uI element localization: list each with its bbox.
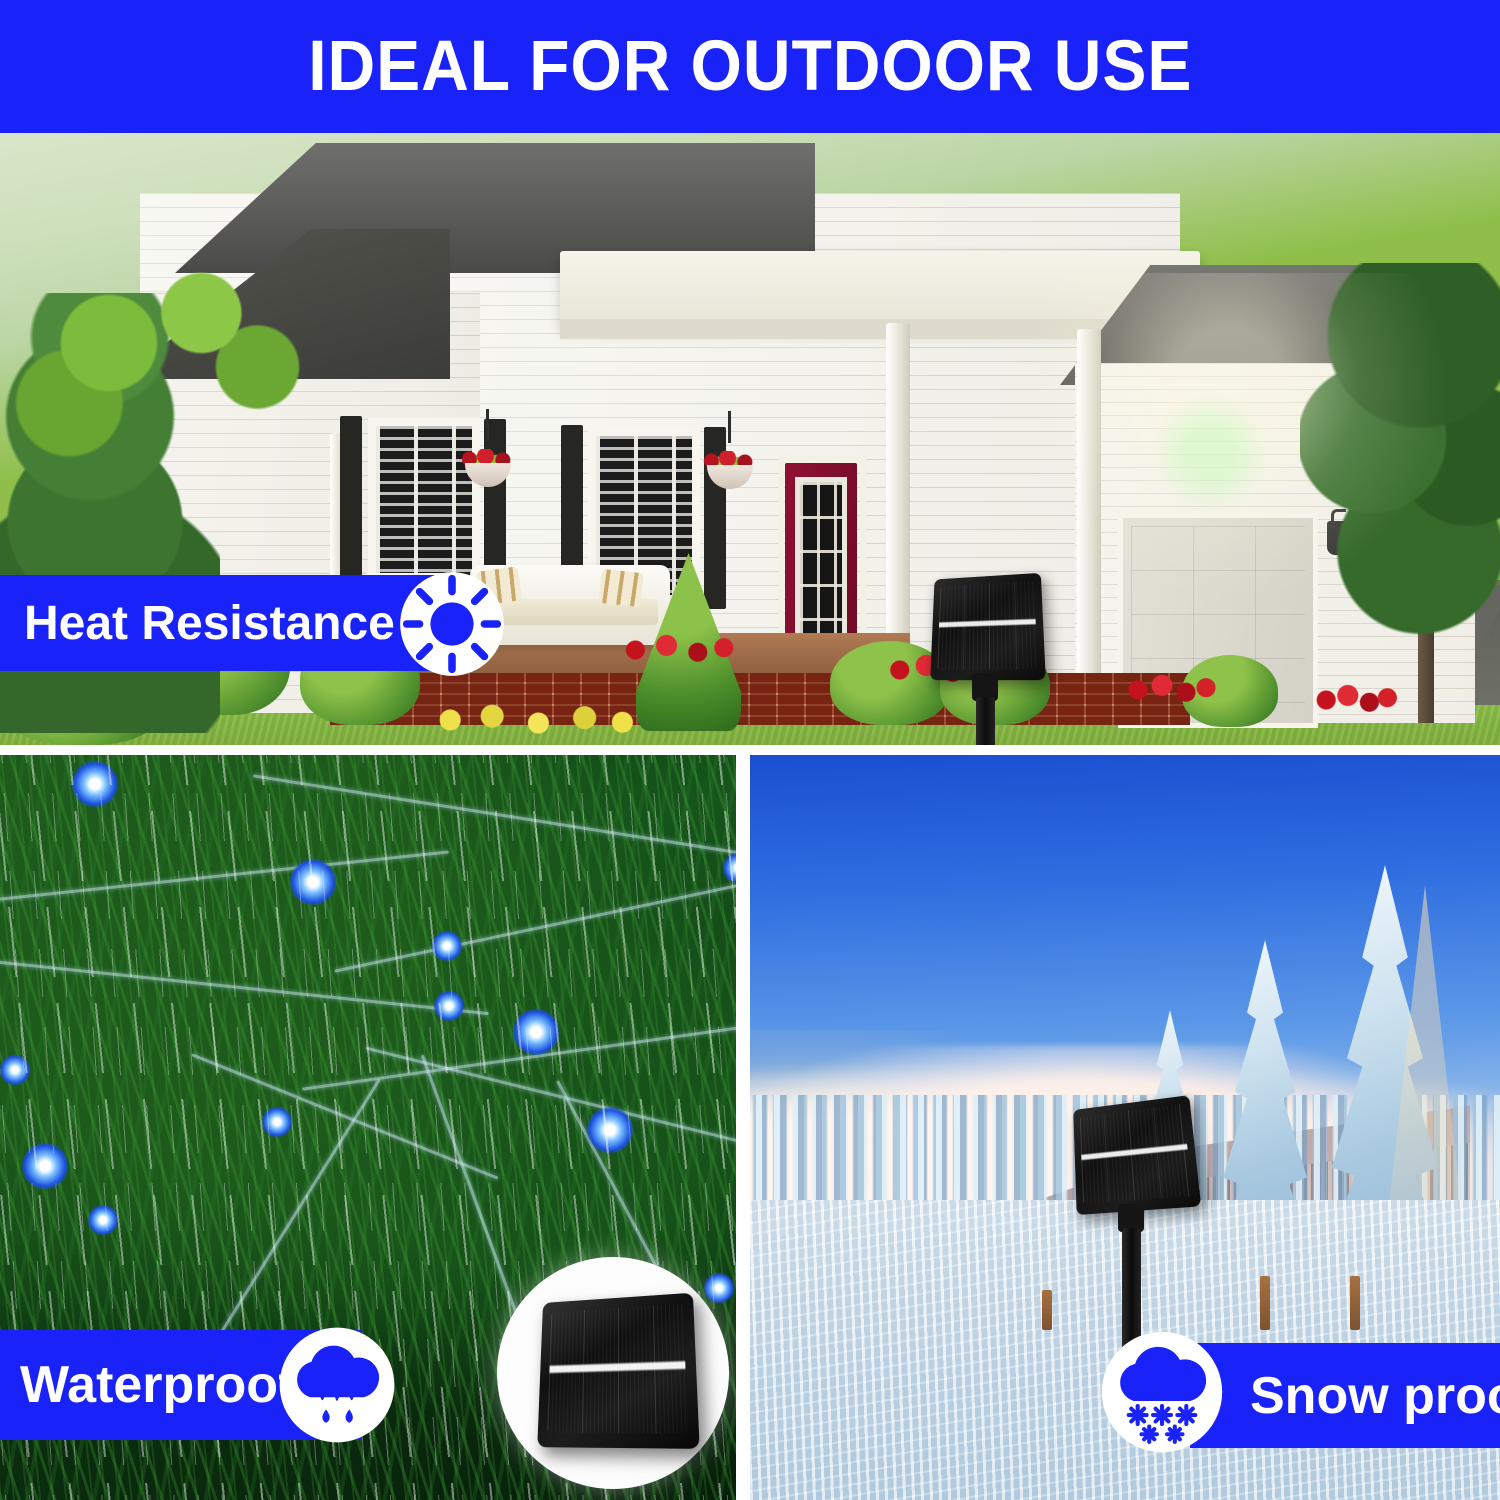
panel-divider-vertical xyxy=(736,745,750,1500)
fence-post xyxy=(1350,1276,1360,1330)
basket-hook-icon xyxy=(486,409,489,441)
deciduous-tree xyxy=(1300,263,1500,663)
snow-cloud-icon xyxy=(1098,1328,1226,1456)
badge-snowproof: Snow proof xyxy=(1190,1343,1500,1448)
badge-waterproof-label: Waterproof xyxy=(20,1355,295,1415)
porch-column xyxy=(1077,329,1101,714)
striped-pillow xyxy=(598,569,643,607)
door-glass xyxy=(795,477,847,651)
hanging-basket xyxy=(697,443,763,487)
red-flower-bed xyxy=(612,631,742,669)
ground-stake xyxy=(976,697,995,745)
page-title: IDEAL FOR OUTDOOR USE xyxy=(308,26,1192,107)
window-shutter xyxy=(340,416,362,598)
solar-panel xyxy=(1073,1095,1201,1215)
red-flower-bed xyxy=(1310,681,1400,719)
badge-heat-resistance: Heat Resistance xyxy=(0,575,452,671)
basket-pot xyxy=(707,465,753,489)
deciduous-tree xyxy=(10,263,340,463)
sun-icon xyxy=(398,570,506,678)
product-feature-image: IDEAL FOR OUTDOOR USE xyxy=(0,0,1500,1500)
yellow-flower-bed xyxy=(425,701,635,739)
fence-post xyxy=(1260,1276,1270,1330)
hanging-basket xyxy=(455,441,521,485)
lens-flare-orb xyxy=(1150,393,1270,513)
solar-panel xyxy=(930,573,1046,680)
badge-heat-label: Heat Resistance xyxy=(24,596,395,651)
basket-pot xyxy=(465,463,511,487)
basket-hook-icon xyxy=(728,411,731,443)
solar-stake-light xyxy=(930,573,1045,745)
rain-cloud-icon xyxy=(276,1324,398,1446)
porch-roof xyxy=(560,251,1200,329)
fence-post xyxy=(1042,1290,1052,1330)
header-banner: IDEAL FOR OUTDOOR USE xyxy=(0,0,1500,133)
badge-snowproof-label: Snow proof xyxy=(1250,1366,1500,1426)
red-flower-bed xyxy=(1120,671,1220,709)
solar-panel-inset xyxy=(537,1293,699,1449)
panel-divider-horizontal xyxy=(0,745,1500,755)
